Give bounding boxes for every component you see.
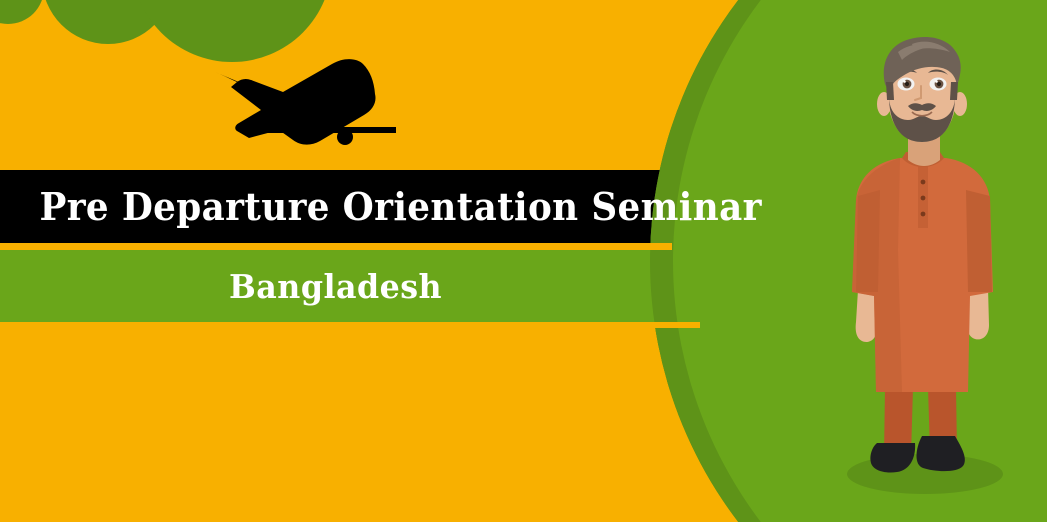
hair-sideburn-right [950, 82, 958, 100]
title-band-background [0, 170, 672, 243]
runway-line [241, 127, 396, 133]
shoe-right [917, 436, 965, 471]
kurta-sleeve-right [966, 190, 992, 292]
kurta-button-2 [921, 196, 926, 201]
eye-right-glint [935, 80, 938, 83]
kurta-button-1 [921, 180, 926, 185]
kurta-sleeve-left [856, 190, 880, 292]
subtitle-band-background [0, 250, 700, 322]
seminar-banner: Pre Departure Orientation Seminar Bangla… [0, 0, 1047, 522]
eye-left-pupil [905, 82, 909, 86]
banner-artwork [0, 0, 1047, 522]
kurta-button-3 [921, 212, 926, 217]
eye-left-glint [903, 80, 906, 83]
separator-above-subtitle [0, 243, 672, 250]
beard-soul-patch [918, 117, 926, 124]
hair-sideburn-left [886, 82, 894, 100]
eye-right-pupil [937, 82, 941, 86]
separator-below-subtitle [0, 322, 700, 328]
